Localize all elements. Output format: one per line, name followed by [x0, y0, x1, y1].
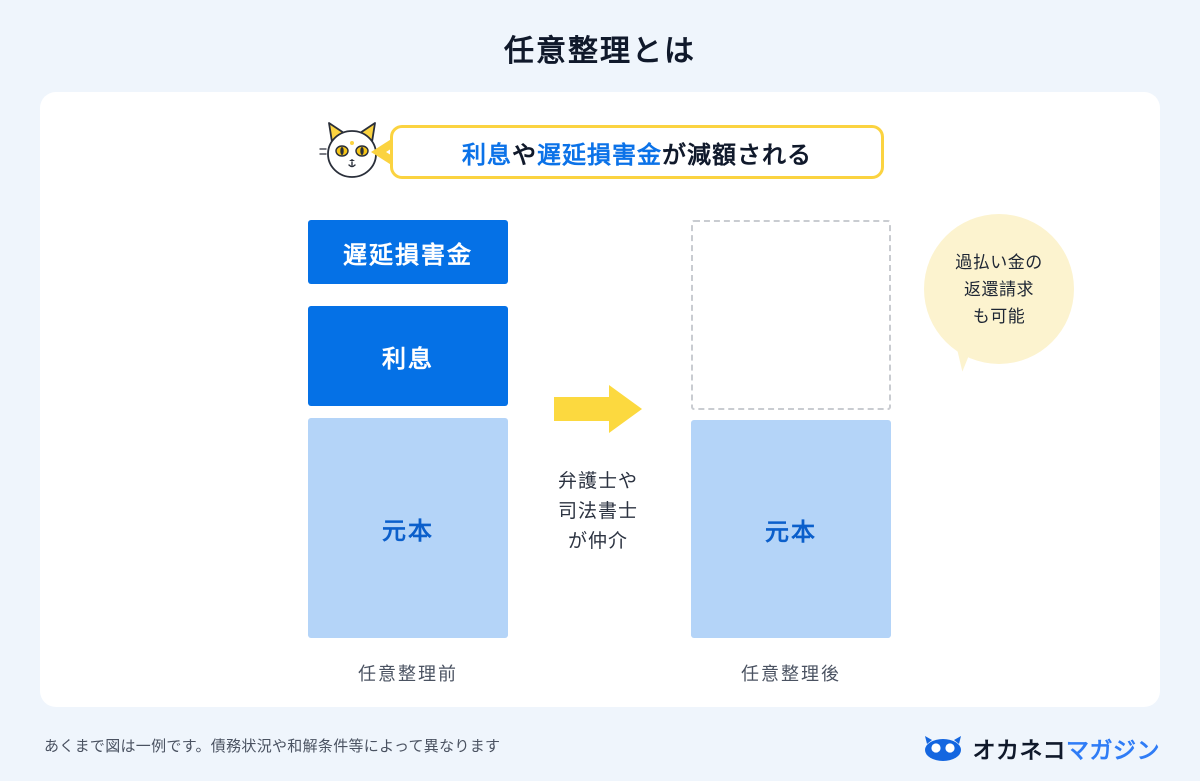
- page-title: 任意整理とは: [0, 26, 1200, 70]
- side-note-line1: 過払い金の: [955, 249, 1043, 276]
- side-note-line2: 返還請求: [955, 276, 1043, 303]
- caption-before: 任意整理前: [308, 660, 508, 686]
- callout-plain-1: や: [512, 142, 537, 169]
- middle-caption-line1: 弁護士や: [548, 467, 648, 497]
- brand-logo: オカネコマガジン: [923, 731, 1160, 765]
- content-card: 利息や遅延損害金が減額される 遅延損害金 利息 元本 任意整理前 弁護士や 司法…: [40, 92, 1160, 707]
- footer-disclaimer: あくまで図は一例です。債務状況や和解条件等によって異なります: [44, 735, 500, 756]
- brand-name-primary: オカネコ: [972, 737, 1066, 763]
- bar-before-principal: 元本: [308, 418, 508, 638]
- callout-highlight-1: 利息: [462, 142, 512, 169]
- bar-after-principal: 元本: [691, 420, 891, 638]
- arrow-right-icon: [554, 385, 642, 433]
- bar-after-reduced-placeholder: [691, 220, 891, 410]
- callout-plain-2: が減額される: [662, 142, 812, 169]
- main-callout-bubble: 利息や遅延損害金が減額される: [390, 125, 884, 179]
- side-note-text: 過払い金の 返還請求 も可能: [955, 249, 1043, 330]
- caption-after: 任意整理後: [691, 660, 891, 686]
- main-callout-text: 利息や遅延損害金が減額される: [462, 135, 812, 170]
- side-note-bubble: 過払い金の 返還請求 も可能: [924, 214, 1074, 364]
- bar-before-interest: 利息: [308, 306, 508, 406]
- brand-name: オカネコマガジン: [972, 731, 1160, 765]
- middle-caption: 弁護士や 司法書士 が仲介: [548, 467, 648, 557]
- middle-caption-line2: 司法書士: [548, 497, 648, 527]
- side-note-line3: も可能: [955, 303, 1043, 330]
- bar-before-delay-damages: 遅延損害金: [308, 220, 508, 284]
- callout-highlight-2: 遅延損害金: [537, 142, 662, 169]
- okaneko-cat-logo-icon: [923, 735, 963, 761]
- infographic-page: 任意整理とは 利息や遅延損害金が減額される 遅延損: [0, 0, 1200, 781]
- middle-caption-line3: が仲介: [548, 527, 648, 557]
- brand-name-secondary: マガジン: [1066, 737, 1160, 763]
